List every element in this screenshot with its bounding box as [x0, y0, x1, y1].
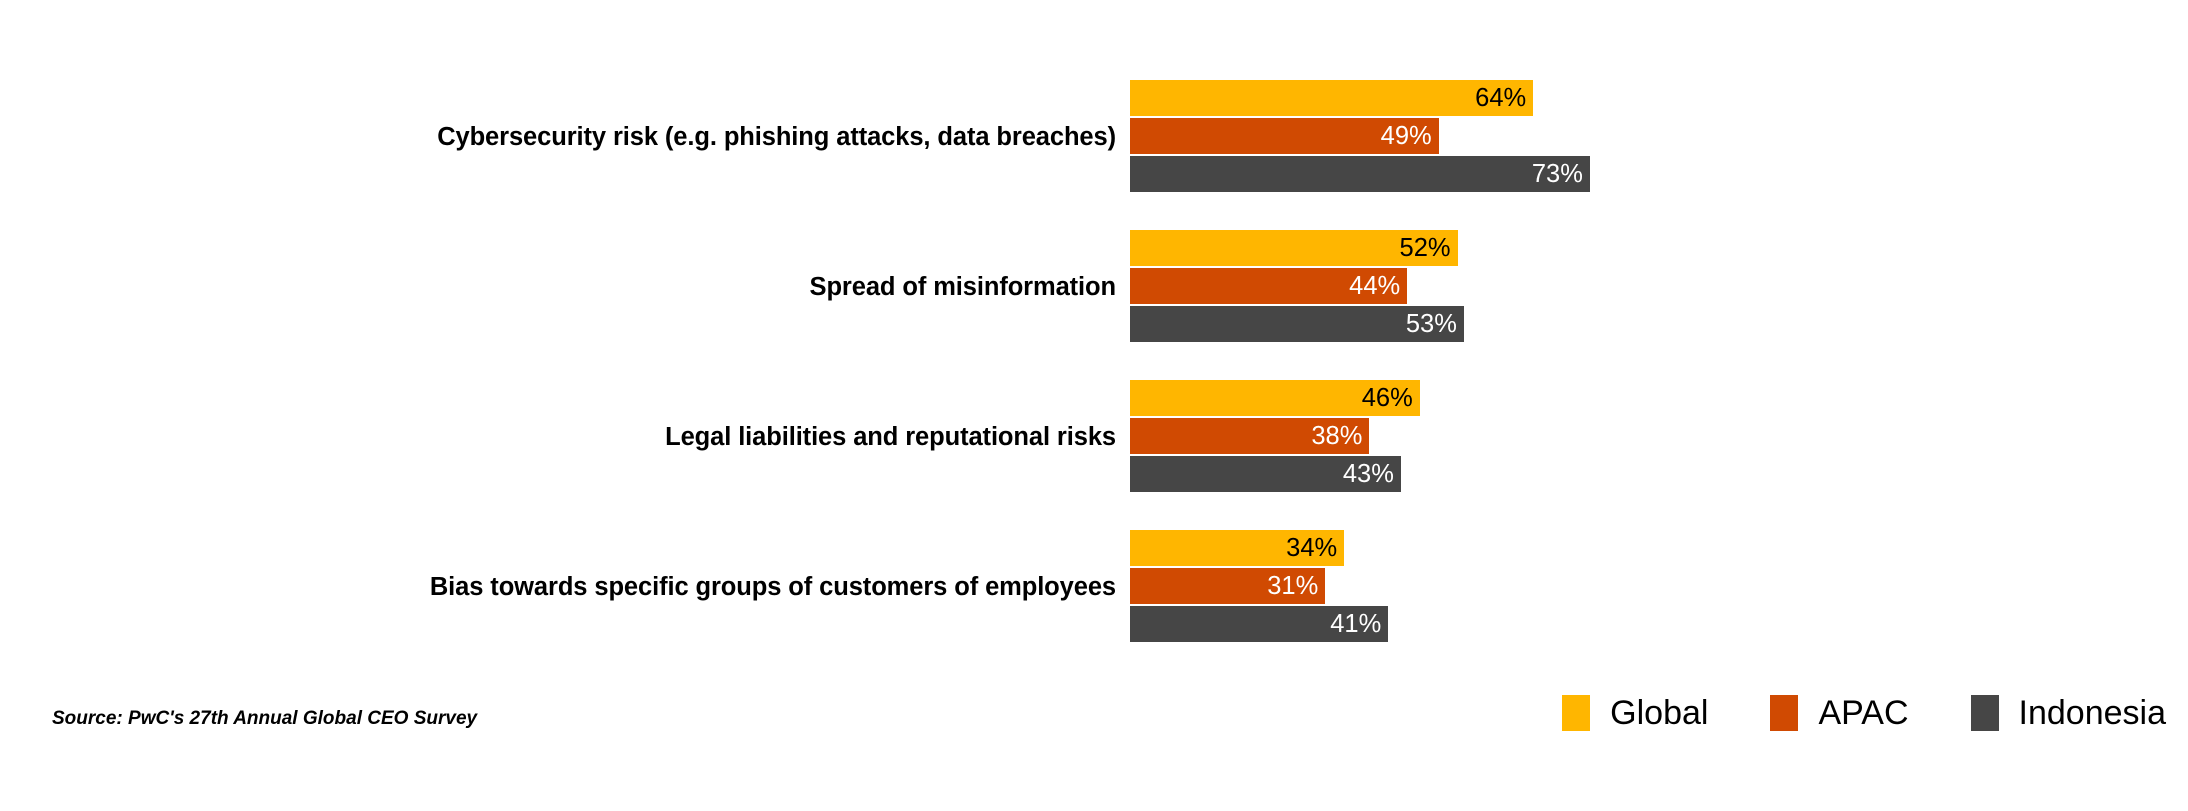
bar-value-label: 31% — [1267, 568, 1318, 604]
bar-indonesia[interactable]: 43% — [1130, 456, 1401, 492]
legend-item-apac[interactable]: APAC — [1770, 695, 1908, 731]
category-label: Spread of misinformation — [810, 230, 1116, 345]
legend-swatch-icon — [1562, 695, 1590, 731]
plot-area: Cybersecurity risk (e.g. phishing attack… — [0, 0, 2188, 660]
bar-apac[interactable]: 31% — [1130, 568, 1325, 604]
bar-row: 38% — [1130, 418, 2130, 454]
bar-row: 53% — [1130, 306, 2130, 342]
bar-global[interactable]: 34% — [1130, 530, 1344, 566]
bar-indonesia[interactable]: 53% — [1130, 306, 1464, 342]
bar-row: 52% — [1130, 230, 2130, 266]
bar-value-label: 38% — [1311, 418, 1362, 454]
legend-swatch-icon — [1971, 695, 1999, 731]
legend-item-global[interactable]: Global — [1562, 695, 1708, 731]
category-group: Cybersecurity risk (e.g. phishing attack… — [0, 80, 2188, 195]
category-label: Cybersecurity risk (e.g. phishing attack… — [437, 80, 1116, 195]
bar-row: 43% — [1130, 456, 2130, 492]
legend-swatch-icon — [1770, 695, 1798, 731]
bar-value-label: 53% — [1406, 306, 1457, 342]
bar-value-label: 46% — [1362, 380, 1413, 416]
bar-value-label: 41% — [1330, 606, 1381, 642]
category-label: Bias towards specific groups of customer… — [430, 530, 1116, 645]
legend-label: Indonesia — [2019, 695, 2166, 731]
bar-row: 49% — [1130, 118, 2130, 154]
bar-row: 31% — [1130, 568, 2130, 604]
bar-value-label: 34% — [1286, 530, 1337, 566]
bar-value-label: 43% — [1343, 456, 1394, 492]
legend-label: APAC — [1818, 695, 1908, 731]
category-group: Legal liabilities and reputational risks… — [0, 380, 2188, 495]
bar-row: 34% — [1130, 530, 2130, 566]
bar-apac[interactable]: 38% — [1130, 418, 1369, 454]
bar-group: 64%49%73% — [1130, 80, 2130, 195]
bar-apac[interactable]: 49% — [1130, 118, 1439, 154]
bar-group: 52%44%53% — [1130, 230, 2130, 345]
bar-value-label: 73% — [1532, 156, 1583, 192]
bar-value-label: 44% — [1349, 268, 1400, 304]
bar-row: 73% — [1130, 156, 2130, 192]
chart-legend: GlobalAPACIndonesia — [1500, 695, 2166, 731]
bar-chart: Cybersecurity risk (e.g. phishing attack… — [0, 0, 2188, 811]
bar-indonesia[interactable]: 73% — [1130, 156, 1590, 192]
bar-value-label: 49% — [1381, 118, 1432, 154]
category-label: Legal liabilities and reputational risks — [665, 380, 1116, 495]
bar-row: 64% — [1130, 80, 2130, 116]
category-group: Spread of misinformation52%44%53% — [0, 230, 2188, 345]
bar-row: 41% — [1130, 606, 2130, 642]
bar-indonesia[interactable]: 41% — [1130, 606, 1388, 642]
bar-global[interactable]: 52% — [1130, 230, 1458, 266]
bar-row: 46% — [1130, 380, 2130, 416]
bar-value-label: 52% — [1400, 230, 1451, 266]
bar-global[interactable]: 64% — [1130, 80, 1533, 116]
bar-group: 34%31%41% — [1130, 530, 2130, 645]
bar-apac[interactable]: 44% — [1130, 268, 1407, 304]
source-note: Source: PwC's 27th Annual Global CEO Sur… — [52, 708, 477, 730]
category-group: Bias towards specific groups of customer… — [0, 530, 2188, 645]
bar-group: 46%38%43% — [1130, 380, 2130, 495]
legend-item-indonesia[interactable]: Indonesia — [1971, 695, 2166, 731]
bar-global[interactable]: 46% — [1130, 380, 1420, 416]
bar-row: 44% — [1130, 268, 2130, 304]
bar-value-label: 64% — [1475, 80, 1526, 116]
legend-label: Global — [1610, 695, 1708, 731]
